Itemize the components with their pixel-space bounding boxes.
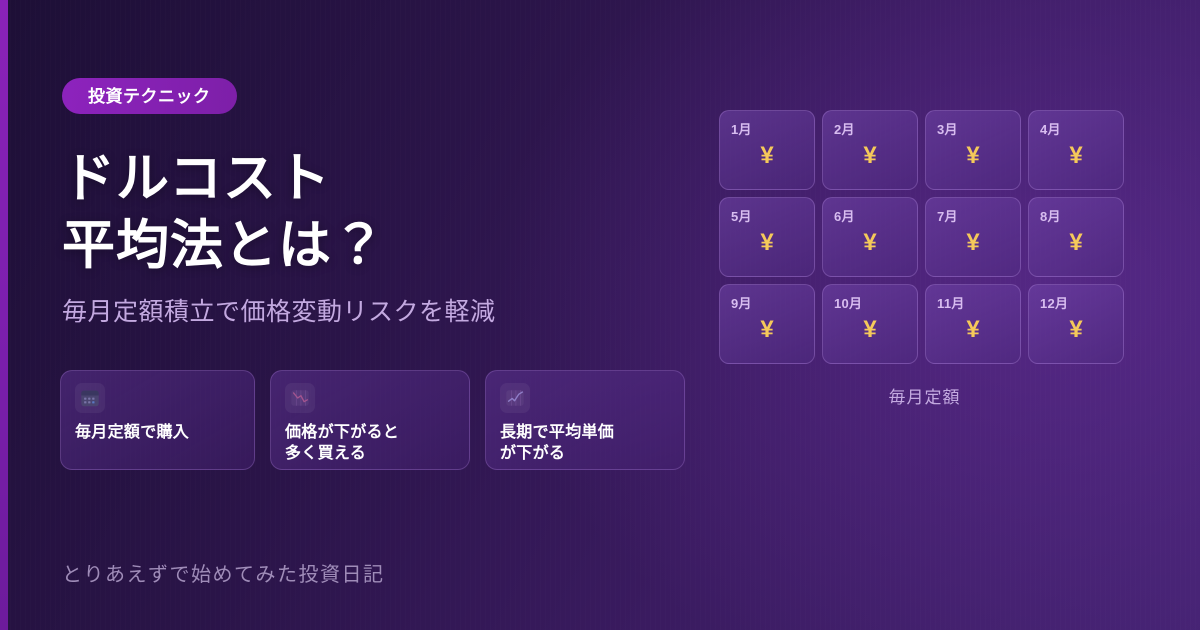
yen-symbol: ¥ [926, 144, 1020, 168]
feature-card-label: 毎月定額で購入 [75, 422, 240, 443]
yen-symbol: ¥ [823, 231, 917, 255]
page-title: ドルコスト 平均法とは？ [62, 146, 702, 280]
yen-symbol: ¥ [1029, 231, 1123, 255]
month-grid: 1月 ¥ 2月 ¥ 3月 ¥ 4月 ¥ 5月 ¥ 6月 ¥ [719, 110, 1130, 364]
feature-card-list: 毎月定額で購入 価格が下がると 多く買える [60, 370, 685, 470]
yen-symbol: ¥ [1029, 318, 1123, 342]
month-label: 3月 [937, 119, 958, 138]
yen-symbol: ¥ [1029, 144, 1123, 168]
month-label: 6月 [834, 206, 855, 225]
month-label: 2月 [834, 119, 855, 138]
month-label: 8月 [1040, 206, 1061, 225]
month-card: 10月 ¥ [822, 284, 918, 364]
month-card: 4月 ¥ [1028, 110, 1124, 190]
category-badge: 投資テクニック [62, 78, 237, 114]
feature-card-long-term-average: 長期で平均単価 が下がる [485, 370, 685, 470]
month-label: 4月 [1040, 119, 1061, 138]
feature-card-label: 長期で平均単価 が下がる [500, 422, 670, 465]
feature-card-label: 価格が下がると 多く買える [285, 422, 455, 465]
month-label: 1月 [731, 119, 752, 138]
page-subtitle: 毎月定額積立で価格変動リスクを軽減 [62, 296, 702, 329]
chart-up-icon [500, 383, 530, 413]
feature-card-monthly-purchase: 毎月定額で購入 [60, 370, 255, 470]
hero-banner: 投資テクニック ドルコスト 平均法とは？ 毎月定額積立で価格変動リスクを軽減 [0, 0, 1200, 630]
yen-symbol: ¥ [720, 231, 814, 255]
month-card: 2月 ¥ [822, 110, 918, 190]
month-grid-caption: 毎月定額 [719, 383, 1130, 408]
month-card: 7月 ¥ [925, 197, 1021, 277]
month-label: 10月 [834, 293, 862, 312]
month-label: 11月 [937, 293, 965, 312]
month-card: 3月 ¥ [925, 110, 1021, 190]
feature-card-price-drop: 価格が下がると 多く買える [270, 370, 470, 470]
chart-down-icon [285, 383, 315, 413]
category-badge-label: 投資テクニック [88, 88, 211, 105]
month-label: 7月 [937, 206, 958, 225]
month-card: 5月 ¥ [719, 197, 815, 277]
month-card: 12月 ¥ [1028, 284, 1124, 364]
month-label: 9月 [731, 293, 752, 312]
yen-symbol: ¥ [926, 231, 1020, 255]
yen-symbol: ¥ [823, 318, 917, 342]
site-name: とりあえずで始めてみた投資日記 [62, 558, 385, 587]
month-card: 6月 ¥ [822, 197, 918, 277]
yen-symbol: ¥ [926, 318, 1020, 342]
month-label: 12月 [1040, 293, 1068, 312]
monthly-contribution-panel: 1月 ¥ 2月 ¥ 3月 ¥ 4月 ¥ 5月 ¥ 6月 ¥ [719, 110, 1130, 408]
hero-text-column: 投資テクニック ドルコスト 平均法とは？ 毎月定額積立で価格変動リスクを軽減 [62, 78, 702, 328]
calendar-icon [75, 383, 105, 413]
month-card: 8月 ¥ [1028, 197, 1124, 277]
yen-symbol: ¥ [720, 144, 814, 168]
yen-symbol: ¥ [823, 144, 917, 168]
month-card: 11月 ¥ [925, 284, 1021, 364]
month-card: 9月 ¥ [719, 284, 815, 364]
yen-symbol: ¥ [720, 318, 814, 342]
month-label: 5月 [731, 206, 752, 225]
month-card: 1月 ¥ [719, 110, 815, 190]
left-accent-bar [0, 0, 8, 630]
